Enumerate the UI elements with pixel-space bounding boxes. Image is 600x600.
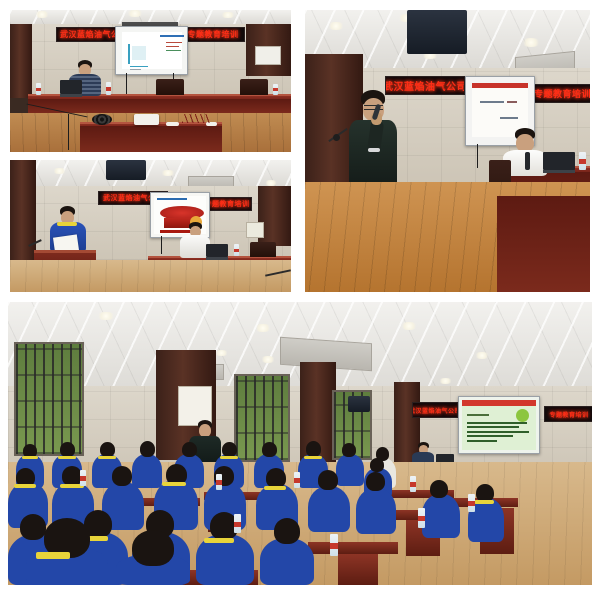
audience-body: [422, 494, 460, 538]
audience-head: [100, 442, 115, 457]
banner-right-text: 专题教育培训: [205, 199, 250, 209]
remote: [166, 122, 179, 126]
front-table-front: [80, 126, 222, 152]
panel-middle-left: 武汉蓝焰油气公司 专题教育培训: [10, 160, 291, 292]
head-table-front: [28, 99, 291, 113]
audience-head: [60, 442, 75, 457]
led-banner-right: 专题教育培训: [533, 84, 590, 103]
screen-cable: [161, 236, 162, 254]
laptop: [60, 80, 82, 94]
ceiling-light: [126, 10, 144, 17]
chair: [250, 242, 276, 257]
audience-collar: [304, 456, 322, 459]
led-banner-right: 专题教育培训: [181, 27, 245, 42]
ceiling-light: [160, 170, 176, 176]
screen-cable: [477, 144, 478, 168]
audience-head: [140, 441, 155, 457]
water-bottle: [579, 152, 586, 170]
audience-collar: [204, 538, 234, 543]
audience-head: [112, 466, 132, 486]
audience-head: [266, 468, 286, 488]
audience-head: [222, 442, 237, 457]
audience-collar: [98, 456, 116, 459]
wall-notice: [255, 46, 281, 65]
audience-collar: [264, 486, 286, 490]
water-bottle: [294, 472, 300, 488]
ceiling-light: [220, 12, 236, 18]
water-bottle: [410, 476, 416, 492]
audience-head: [366, 472, 385, 491]
audience-collar: [162, 482, 186, 486]
audience-head: [370, 458, 384, 472]
audience-head: [430, 480, 448, 498]
laptop: [543, 152, 575, 170]
audience-head: [62, 466, 82, 486]
water-bottle: [80, 470, 86, 486]
audience-head-foreground: [132, 530, 174, 566]
water-bottle: [418, 508, 425, 528]
cable-bundle: [182, 114, 210, 123]
water-bottle: [234, 244, 239, 256]
chair: [156, 79, 184, 95]
microphone-desk: [525, 152, 530, 170]
panel-top-left: 武汉蓝焰油气公司 专题教育培训: [10, 10, 291, 152]
audience-collar: [14, 484, 36, 488]
screen-cable: [126, 73, 127, 95]
water-bottle: [234, 514, 241, 533]
cable-coil: [92, 114, 112, 125]
audience-collar: [474, 500, 494, 504]
cable: [68, 114, 69, 150]
audience-head: [306, 441, 321, 457]
water-bottle: [468, 494, 475, 512]
podium-mic-head: [333, 134, 340, 141]
water-bottle: [216, 474, 222, 490]
audience-collar: [36, 552, 70, 559]
audience-body: [336, 454, 364, 486]
audience-collar: [58, 456, 76, 459]
wall-wood-panel: [10, 24, 32, 98]
audience-head: [342, 443, 356, 457]
audience-body: [132, 454, 162, 488]
audience-head: [318, 470, 338, 490]
water-bottle: [330, 534, 338, 556]
ceiling: [10, 160, 291, 186]
wall-speaker: [407, 10, 467, 54]
water-bottle: [36, 83, 41, 95]
slide-content: [122, 32, 182, 69]
collar-yellow: [57, 222, 77, 226]
banner-right-text: 专题教育培训: [188, 29, 239, 40]
ceiling-light: [34, 11, 50, 18]
photo-collage: 武汉蓝焰油气公司 专题教育培训: [0, 0, 600, 600]
panel-right: 武汉蓝焰油气公司 专题教育培训: [305, 10, 590, 292]
table-front-foreground: [497, 196, 590, 292]
audience-collar: [22, 456, 38, 459]
water-bottle: [106, 82, 111, 95]
panel-bottom-audience: 武汉蓝焰油气公司 专题教育培训: [8, 302, 592, 585]
wall-notice: [246, 222, 264, 238]
audience-head: [262, 442, 277, 457]
audience-body: [356, 488, 396, 534]
wristwatch: [368, 148, 380, 152]
audience-body: [308, 486, 350, 532]
ceiling-light: [327, 22, 345, 30]
chair: [240, 79, 268, 95]
water-bottle: [273, 84, 278, 95]
projection-screen: [115, 26, 188, 75]
laptop: [206, 244, 228, 257]
audience-head: [20, 514, 46, 540]
audience-row-back: [8, 302, 592, 585]
audience-collar: [220, 456, 238, 459]
wall-speaker: [106, 160, 146, 180]
audience-body: [260, 538, 314, 585]
ceiling-light: [521, 38, 541, 47]
audience-head: [274, 518, 300, 544]
floor: [10, 260, 291, 292]
projector: [134, 114, 159, 125]
audience-head: [182, 442, 197, 457]
banner-right-text: 专题教育培训: [534, 87, 590, 100]
ceiling-light: [52, 168, 67, 174]
